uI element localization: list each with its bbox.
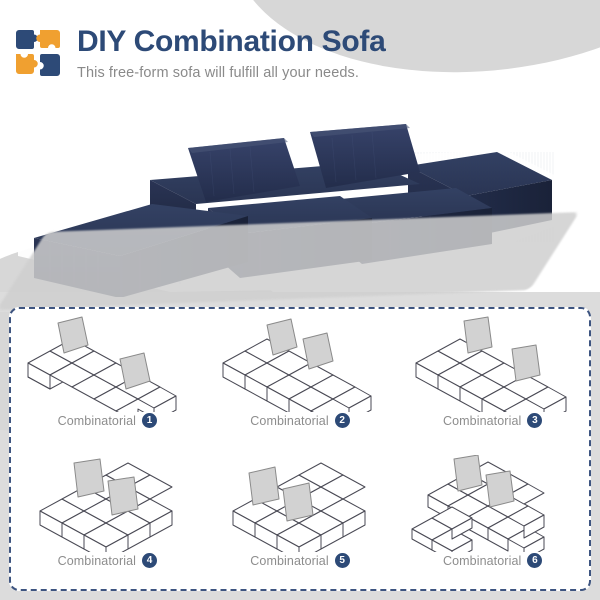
combination-grid: Combinatorial 1 xyxy=(11,309,589,589)
caption-1: Combinatorial 1 xyxy=(58,413,157,428)
caption-4: Combinatorial 4 xyxy=(58,553,157,568)
hero-product-image xyxy=(0,92,600,297)
sofa-diagram-6 xyxy=(408,455,578,552)
caption-5: Combinatorial 5 xyxy=(250,553,349,568)
sofa-diagram-5 xyxy=(215,455,385,552)
badge-3: 3 xyxy=(527,413,542,428)
page-title: DIY Combination Sofa xyxy=(77,26,385,58)
badge-2: 2 xyxy=(335,413,350,428)
combination-item-2[interactable]: Combinatorial 2 xyxy=(204,309,397,449)
page-subtitle: This free-form sofa will fulfill all you… xyxy=(77,65,385,81)
header: DIY Combination Sofa This free-form sofa… xyxy=(14,26,385,81)
combination-item-1[interactable]: Combinatorial 1 xyxy=(11,309,204,449)
combination-item-3[interactable]: Combinatorial 3 xyxy=(396,309,589,449)
badge-1: 1 xyxy=(142,413,157,428)
caption-3: Combinatorial 3 xyxy=(443,413,542,428)
combination-panel: Combinatorial 1 xyxy=(9,307,591,591)
caption-2: Combinatorial 2 xyxy=(250,413,349,428)
sofa-diagram-1 xyxy=(22,315,192,412)
caption-6: Combinatorial 6 xyxy=(443,553,542,568)
header-text-group: DIY Combination Sofa This free-form sofa… xyxy=(77,26,385,81)
caption-label-3: Combinatorial xyxy=(443,414,521,428)
sofa-diagram-3 xyxy=(408,315,578,412)
caption-label-6: Combinatorial xyxy=(443,554,521,568)
puzzle-logo-icon xyxy=(14,28,64,78)
caption-label-1: Combinatorial xyxy=(58,414,136,428)
combination-item-4[interactable]: Combinatorial 4 xyxy=(11,449,204,589)
combination-item-5[interactable]: Combinatorial 5 xyxy=(204,449,397,589)
caption-label-2: Combinatorial xyxy=(250,414,328,428)
badge-5: 5 xyxy=(335,553,350,568)
sofa-diagram-4 xyxy=(22,455,192,552)
badge-6: 6 xyxy=(527,553,542,568)
caption-label-5: Combinatorial xyxy=(250,554,328,568)
sofa-diagram-2 xyxy=(215,315,385,412)
badge-4: 4 xyxy=(142,553,157,568)
combination-item-6[interactable]: Combinatorial 6 xyxy=(396,449,589,589)
caption-label-4: Combinatorial xyxy=(58,554,136,568)
